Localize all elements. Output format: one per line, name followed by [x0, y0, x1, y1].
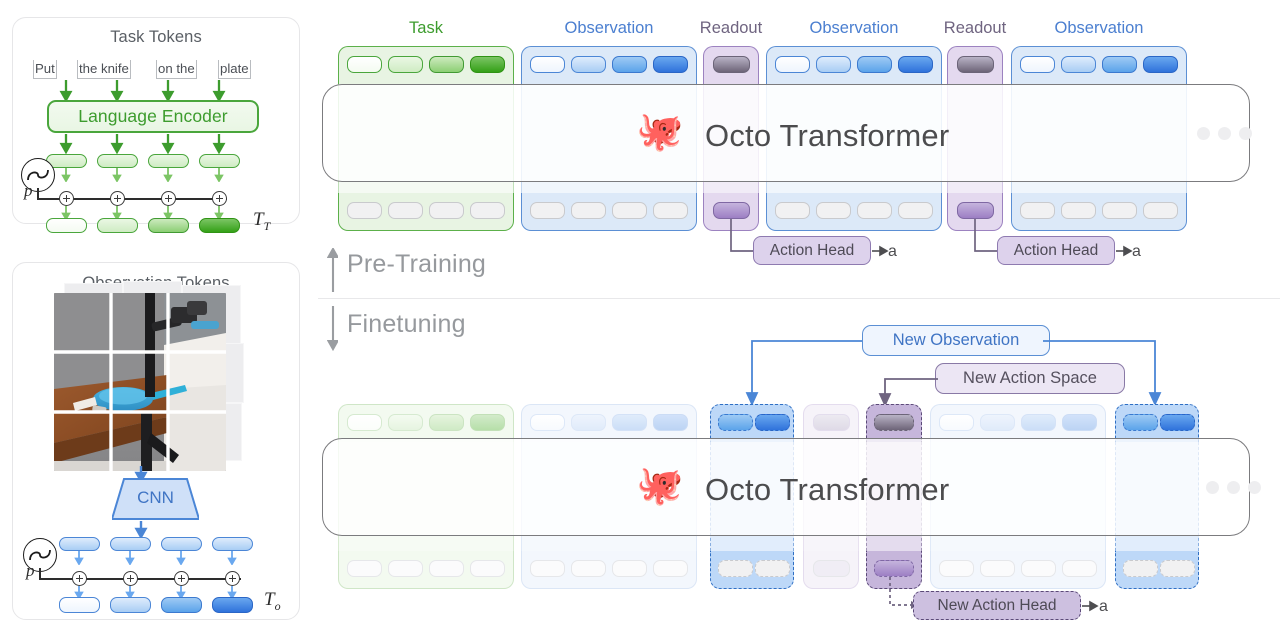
output-token — [898, 202, 933, 219]
column-label-readout: Readout — [695, 19, 767, 38]
new-observation-connector-left — [740, 335, 870, 407]
ft-input-token — [347, 414, 382, 431]
ft-input-token — [571, 414, 606, 431]
ft-output-token — [571, 560, 606, 577]
task-output-token — [46, 218, 87, 233]
continuation-dots — [1206, 481, 1261, 494]
obs-output-token — [212, 597, 253, 613]
ft-output-token — [612, 560, 647, 577]
readout-output-token — [713, 202, 750, 219]
output-token — [1143, 202, 1178, 219]
task-encoder-arrows — [13, 134, 301, 154]
ft-input-token — [939, 414, 974, 431]
add-node — [123, 571, 138, 586]
input-token — [612, 56, 647, 73]
output-token — [1020, 202, 1055, 219]
output-token — [1102, 202, 1137, 219]
input-token — [816, 56, 851, 73]
input-token — [571, 56, 606, 73]
cnn-box: CNN — [112, 477, 199, 521]
input-token — [1061, 56, 1096, 73]
ft-output-token — [1062, 560, 1097, 577]
cnn-to-tokens-arrow — [120, 521, 180, 538]
output-token — [388, 202, 423, 219]
obs-mid-token — [212, 537, 253, 551]
ft-new-input-token — [1123, 414, 1158, 431]
ft-output-token — [530, 560, 565, 577]
ft-new-readout-output-token — [874, 560, 914, 577]
ft-output-token — [980, 560, 1015, 577]
add-node — [174, 571, 189, 586]
task-output-token — [97, 218, 138, 233]
pe-bus-line — [39, 578, 241, 580]
input-token — [1020, 56, 1055, 73]
ft-input-token — [530, 414, 565, 431]
action-output-2: a — [1132, 243, 1141, 261]
ft-output-token — [653, 560, 688, 577]
obs-mid-token — [59, 537, 100, 551]
task-mid-token — [97, 154, 138, 168]
output-token — [1061, 202, 1096, 219]
add-node — [212, 191, 227, 206]
ft-new-input-token — [1160, 414, 1195, 431]
action-head-1[interactable]: Action Head — [753, 236, 871, 265]
add-node — [59, 191, 74, 206]
obs-sum-arrows — [0, 586, 300, 600]
octo-transformer-label-pretraining: Octo Transformer — [705, 118, 949, 154]
ft-output-token — [470, 560, 505, 577]
octo-transformer-label-finetuning: Octo Transformer — [705, 472, 949, 508]
callout-new-observation: New Observation — [862, 325, 1050, 356]
ft-new-readout-input-token — [874, 414, 914, 431]
input-token — [470, 56, 505, 73]
task-word: the knife — [77, 60, 131, 79]
action-head-2[interactable]: Action Head — [997, 236, 1115, 265]
ft-input-token — [429, 414, 464, 431]
observation-image — [51, 293, 228, 471]
readout-output-token — [957, 202, 994, 219]
task-word: plate — [218, 60, 251, 79]
output-token — [816, 202, 851, 219]
input-token — [857, 56, 892, 73]
ft-readout-input-token — [813, 414, 850, 431]
ft-input-token — [1021, 414, 1056, 431]
obs-output-token — [161, 597, 202, 613]
output-token — [429, 202, 464, 219]
obs-mid-token — [161, 537, 202, 551]
task-word-arrows — [13, 80, 301, 102]
continuation-dots — [1197, 127, 1252, 140]
output-token — [470, 202, 505, 219]
output-token — [612, 202, 647, 219]
ft-output-token — [429, 560, 464, 577]
input-token — [388, 56, 423, 73]
stage-label-pretraining: Pre-Training — [347, 250, 486, 279]
pretraining-arrow-up — [327, 248, 338, 293]
input-token — [429, 56, 464, 73]
ft-readout-output-token — [813, 560, 850, 577]
input-token — [775, 56, 810, 73]
action-output-1: a — [888, 243, 897, 261]
readout-input-token — [957, 56, 994, 73]
input-token — [653, 56, 688, 73]
ft-new-output-token — [1123, 560, 1158, 577]
input-token — [1143, 56, 1178, 73]
obs-output-token — [110, 597, 151, 613]
ft-new-input-token — [718, 414, 753, 431]
ft-input-token — [653, 414, 688, 431]
ft-input-token — [388, 414, 423, 431]
ft-new-output-token — [718, 560, 753, 577]
readout-input-token — [713, 56, 750, 73]
ft-output-token — [1021, 560, 1056, 577]
column-label-observation: Observation — [521, 19, 697, 38]
ft-output-token — [347, 560, 382, 577]
cnn-label: CNN — [112, 488, 199, 508]
stage-divider — [318, 298, 1280, 299]
task-word: Put — [33, 60, 57, 79]
task-output-token — [199, 218, 240, 233]
observation-tokens-symbol: To — [264, 589, 281, 614]
input-token — [898, 56, 933, 73]
input-token — [530, 56, 565, 73]
ft-output-token — [388, 560, 423, 577]
output-token — [775, 202, 810, 219]
finetuning-arrow-down — [327, 306, 338, 351]
new-observation-connector-right — [1043, 335, 1173, 407]
positional-label: p — [26, 561, 35, 581]
task-tokens-panel: Task Tokens Put the knife on the plate L… — [12, 17, 300, 224]
task-output-token — [148, 218, 189, 233]
positional-label: p — [24, 181, 33, 201]
stage-label-finetuning: Finetuning — [347, 310, 466, 339]
language-encoder-box: Language Encoder — [47, 100, 259, 133]
add-node — [72, 571, 87, 586]
output-token — [347, 202, 382, 219]
ft-input-token — [980, 414, 1015, 431]
ft-new-output-token — [1160, 560, 1195, 577]
add-node — [161, 191, 176, 206]
task-word: on the — [156, 60, 197, 79]
octopus-icon: 🐙 — [636, 113, 683, 151]
new-action-head-output-arrow — [1082, 599, 1100, 613]
task-token-arrows — [13, 168, 301, 182]
column-label-task: Task — [338, 19, 514, 38]
output-token — [857, 202, 892, 219]
octopus-icon: 🐙 — [636, 467, 683, 505]
column-label-readout: Readout — [939, 19, 1011, 38]
output-token — [571, 202, 606, 219]
ft-input-token — [1062, 414, 1097, 431]
task-mid-token — [148, 154, 189, 168]
task-tokens-symbol: TT — [253, 209, 270, 234]
panel-title-task: Task Tokens — [13, 28, 299, 47]
column-label-observation: Observation — [766, 19, 942, 38]
input-token — [1102, 56, 1137, 73]
task-word-row: Put the knife on the plate — [31, 60, 283, 82]
input-token — [347, 56, 382, 73]
column-label-observation: Observation — [1011, 19, 1187, 38]
ft-input-token — [612, 414, 647, 431]
add-node — [110, 191, 125, 206]
ft-output-token — [939, 560, 974, 577]
ft-new-output-token — [755, 560, 790, 577]
ft-input-token — [470, 414, 505, 431]
obs-output-token — [59, 597, 100, 613]
obs-mid-token — [110, 537, 151, 551]
add-node — [225, 571, 240, 586]
new-action-output: a — [1099, 598, 1108, 616]
output-token — [530, 202, 565, 219]
task-mid-token — [199, 154, 240, 168]
ft-new-input-token — [755, 414, 790, 431]
new-action-space-connector — [874, 374, 946, 408]
output-token — [653, 202, 688, 219]
new-action-head[interactable]: New Action Head — [913, 591, 1081, 620]
